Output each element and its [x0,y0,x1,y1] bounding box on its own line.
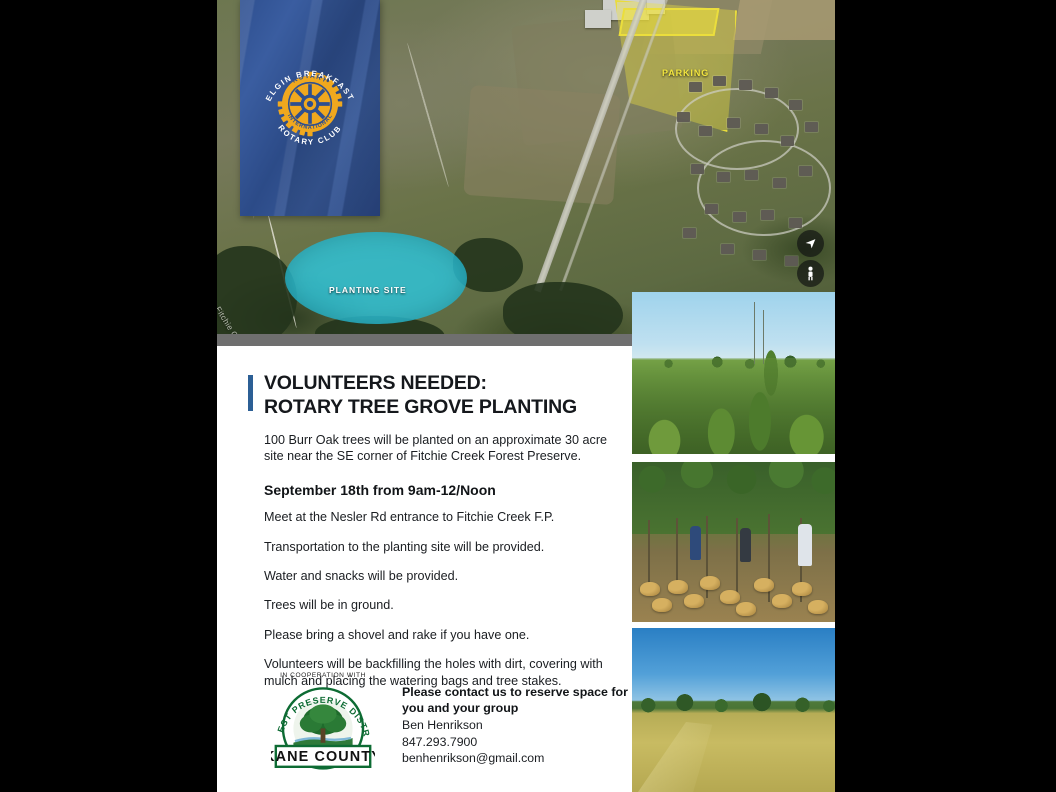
photo-nursery [632,462,835,622]
photo-field-tower [632,292,835,454]
headline-line-2: ROTARY TREE GROVE PLANTING [264,396,577,418]
contact-information: Please contact us to reserve space for y… [402,672,632,767]
contact-heading-line-1: Please contact us to reserve space [402,685,608,699]
contact-email[interactable]: benhenrikson@gmail.com [402,750,632,767]
headline-group: VOLUNTEERS NEEDED: ROTARY TREE GROVE PLA… [217,358,632,420]
event-datetime: September 18th from 9am-12/Noon [264,482,632,498]
contact-heading: Please contact us to reserve space for y… [402,685,632,716]
partner-logo-group: IN COOPERATION WITH [258,672,388,770]
navigation-arrow-icon[interactable] [797,230,824,257]
flyer-footer: IN COOPERATION WITH [217,672,632,770]
map-building [585,10,611,28]
screenshot-stage: PARKING [0,0,1056,792]
pegman-icon[interactable] [797,260,824,287]
photo-prairie [632,628,835,792]
cooperation-label: IN COOPERATION WITH [258,672,388,679]
headline-line-1: VOLUNTEERS NEEDED: [264,372,487,394]
headline-accent-bar [248,375,253,411]
list-item: Meet at the Nesler Rd entrance to Fitchi… [264,509,609,526]
map-farm-field [733,0,835,40]
list-item: Please bring a shovel and rake if you ha… [264,627,609,644]
list-item: Water and snacks will be provided. [264,568,609,585]
rotary-banner: ROTARY INTERNATIONAL ELGIN BREAKFAST ROT… [240,0,380,216]
list-item: Transportation to the planting site will… [264,539,609,556]
rotary-international-emblem: ROTARY INTERNATIONAL ELGIN BREAKFAST ROT… [258,52,362,156]
map-planting-site-polygon [285,232,467,324]
flyer-canvas: PARKING [217,0,835,792]
list-item: Trees will be in ground. [264,597,609,614]
map-label-parking: PARKING [662,68,709,78]
flyer-text-content: VOLUNTEERS NEEDED: ROTARY TREE GROVE PLA… [217,358,632,690]
seal-banner-text: KANE COUNTY [271,749,375,765]
lede-paragraph: 100 Burr Oak trees will be planted on an… [264,432,614,466]
page-title: VOLUNTEERS NEEDED: ROTARY TREE GROVE PLA… [264,372,577,420]
contact-phone[interactable]: 847.293.7900 [402,734,632,751]
kane-county-forest-preserve-logo: FOREST PRESERVE DISTRICT KANE COUNTY [271,682,375,770]
contact-name: Ben Henrikson [402,717,632,734]
map-label-planting-site: PLANTING SITE [329,285,407,295]
event-details-list: Meet at the Nesler Rd entrance to Fitchi… [264,509,609,690]
